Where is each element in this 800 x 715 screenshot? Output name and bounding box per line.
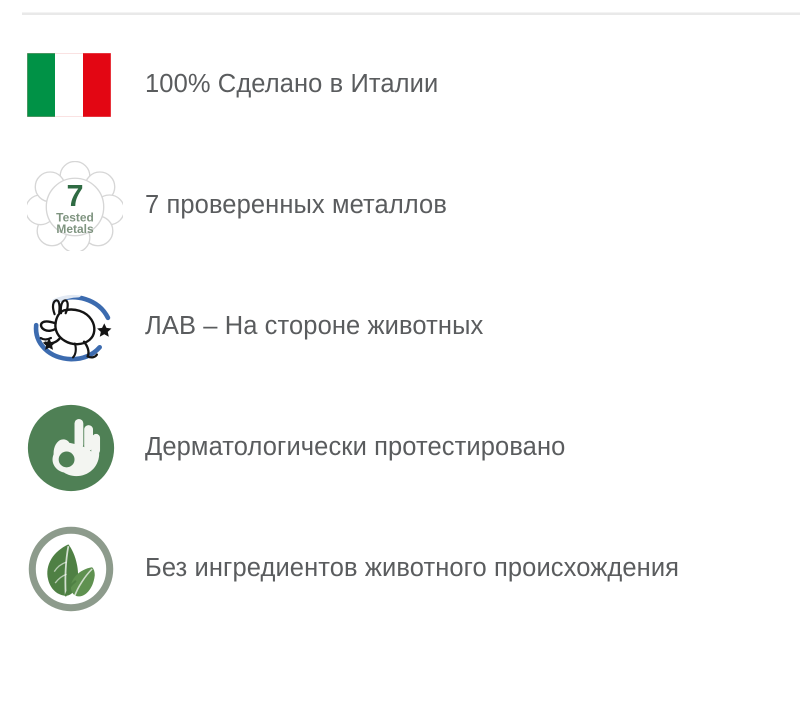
icon-cell [0, 508, 145, 629]
feature-list: 100% Сделано в Италии [0, 24, 800, 629]
vegan-leaves-icon [27, 525, 115, 613]
icon-cell [0, 266, 145, 387]
feature-label: 100% Сделано в Италии [145, 69, 438, 100]
feature-row-no-animal-ingredients: Без ингредиентов животного происхождения [0, 508, 800, 629]
feature-row-dermatologically-tested: Дерматологически протестировано [0, 387, 800, 508]
feature-row-made-in-italy: 100% Сделано в Италии [0, 24, 800, 145]
seven-tested-metals-badge-icon: 7 Tested Metals [27, 161, 123, 251]
badge-number: 7 [66, 179, 83, 213]
feature-label: Дерматологически протестировано [145, 432, 565, 463]
feature-row-lav-animal-friendly: ЛАВ – На стороне животных [0, 266, 800, 387]
icon-cell: 7 Tested Metals [0, 145, 145, 266]
product-claims-panel: 100% Сделано в Италии [0, 0, 800, 715]
dermatologically-tested-ok-hand-icon [27, 404, 115, 492]
feature-label: Без ингредиентов животного происхождения [145, 553, 679, 584]
top-divider [22, 12, 800, 15]
badge-line-2: Metals [56, 221, 94, 235]
icon-cell [0, 387, 145, 508]
feature-label: 7 проверенных металлов [145, 190, 447, 221]
icon-cell [0, 24, 145, 145]
italian-flag-icon [27, 53, 111, 117]
leaping-bunny-lav-icon [27, 290, 119, 364]
feature-row-tested-metals: 7 Tested Metals 7 проверенных металлов [0, 145, 800, 266]
feature-label: ЛАВ – На стороне животных [145, 311, 483, 342]
